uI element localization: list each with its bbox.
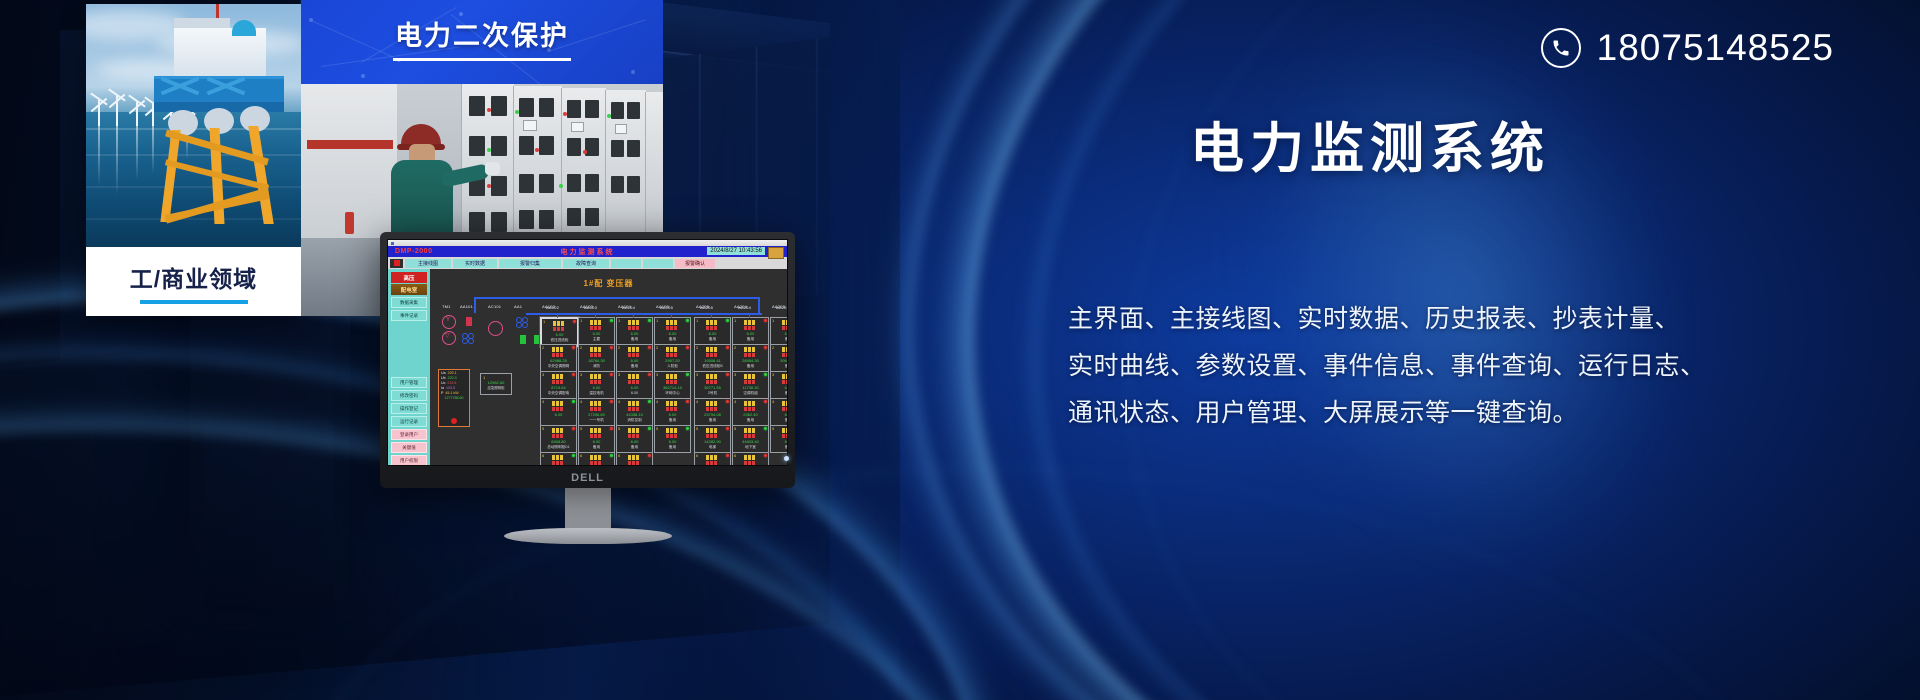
breaker-cell[interactable]: 16.00低压进线柜	[540, 317, 579, 347]
ib-val: 103.5	[446, 386, 455, 390]
cell-value: 44358.10	[617, 412, 652, 417]
cell-status-led	[572, 346, 575, 349]
cell-status-led	[573, 320, 576, 323]
breaker-cell[interactable]: 262988.25中央空调照明	[540, 344, 577, 372]
cell-value: 6.00	[655, 412, 690, 417]
breaker-cell[interactable]: 56.00备用	[616, 425, 653, 453]
cell-status-led	[686, 427, 689, 430]
phase-bars-icon	[552, 347, 566, 357]
cell-name: 一一号机	[579, 418, 614, 423]
cell-status-led	[572, 373, 575, 376]
phase-bars-icon	[706, 320, 720, 330]
breaker-cell[interactable]: 219506.41低压进线柜B	[694, 344, 731, 372]
cell-index: 5	[696, 426, 698, 431]
sidebar-item-op-record[interactable]: 操作登记	[391, 403, 427, 414]
ib-key: Ua	[441, 371, 446, 375]
feeder-drop	[711, 314, 712, 318]
cell-index: 1	[734, 318, 736, 323]
feature-description: 主界面、主接线图、实时数据、历史报表、抄表计量、 实时曲线、参数设置、事件信息、…	[1068, 296, 1868, 437]
cell-value: 6.00	[542, 332, 577, 337]
cell-name: 2号机	[695, 391, 730, 396]
cell-status-led	[686, 373, 689, 376]
left-measurement-panel: Ua220.1 Ub220.3 Uc219.8 Ia103.5 P45.1 kW…	[438, 369, 470, 427]
caption-label: 工/商业领域	[130, 260, 257, 294]
cell-index: 6	[542, 453, 544, 458]
breaker-cell[interactable]: 544603.40地下室	[732, 425, 769, 453]
column-label: AA204	[738, 305, 751, 310]
cell-name: 备用	[617, 364, 652, 369]
app-body: 高压 配电室 数据采集 事件记录 用户管理 修改密码 操作登记 运行记录 登录用…	[388, 269, 787, 465]
cell-name: 应急照明柜	[481, 385, 511, 390]
cell-name: 备用	[733, 418, 768, 423]
cell-status-led	[764, 427, 767, 430]
breaker-cell[interactable]: 423794.08备用	[694, 398, 731, 426]
cell-index: 1	[580, 318, 582, 323]
phase-bars-icon	[782, 320, 787, 330]
cell-status-led	[648, 373, 651, 376]
cell-status-led	[610, 454, 613, 457]
breaker-cell[interactable]: 38719.64中央空调配电	[540, 371, 577, 399]
cell-index: 5	[734, 426, 736, 431]
phase-bars-icon	[552, 401, 566, 411]
feeder-drop	[633, 314, 634, 318]
breaker-cell[interactable]: 36.00温控电机	[578, 371, 615, 399]
cell-name: 人防柜	[655, 364, 690, 369]
breaker-cell[interactable]: 66.00	[540, 452, 577, 465]
cell-name: 温控电机	[579, 391, 614, 396]
feeder-drop	[595, 314, 596, 318]
phase-bars-icon	[553, 321, 567, 331]
tag-underline	[393, 58, 571, 61]
cell-name: 电梯	[695, 445, 730, 450]
menu-spacer-b[interactable]	[643, 259, 673, 268]
cell-index: 2	[772, 345, 774, 350]
cell-status-led	[686, 346, 689, 349]
breaker-cell[interactable]: 16.00备用	[770, 317, 787, 345]
breaker-cell[interactable]: 218764.30消防	[578, 344, 615, 372]
breaker-cell[interactable]: 42362.40备用	[732, 398, 769, 426]
cell-value: 28954.30	[733, 358, 768, 363]
cell-name: 6.00	[617, 391, 652, 395]
phase-bars-icon	[666, 374, 680, 384]
sidebar-item-user-rights[interactable]: 用户权限	[391, 455, 427, 466]
feeder-label-aa1: AA1	[514, 304, 522, 309]
symbol-ct-a	[516, 317, 530, 327]
cell-index: 4	[542, 399, 544, 404]
phase-bars-icon	[590, 347, 604, 357]
breaker-cell[interactable]: 239661.70备用	[770, 344, 787, 372]
cell-status-led	[610, 373, 613, 376]
phase-bars-icon	[706, 455, 720, 465]
cell-value: 18764.30	[579, 358, 614, 363]
menu-item-4[interactable]: 报警确认	[675, 259, 715, 268]
sidebar-item-login-user[interactable]: 登录用户	[391, 429, 427, 440]
menu-item-0[interactable]: 主接线图	[405, 259, 451, 268]
cell-value: 6.00	[617, 331, 652, 336]
cell-index: 3	[580, 372, 582, 377]
cell-value: 23794.08	[695, 412, 730, 417]
cell-value: 62988.25	[541, 358, 576, 363]
offshore-platform-photo	[86, 4, 301, 247]
phase-bars-icon	[706, 428, 720, 438]
cell-name: 备用	[579, 445, 614, 450]
card-caption: 工/商业领域	[86, 247, 301, 316]
sidebar-item-event-log[interactable]: 事件记录	[391, 310, 427, 321]
cell-value: 11738.30	[733, 385, 768, 390]
cell-index: 6	[580, 453, 582, 458]
ib-total: 1277788.60	[445, 396, 464, 400]
cell-value: 2907.20	[655, 358, 690, 363]
bus-drop-left	[474, 297, 476, 313]
cell-name: 备用	[771, 418, 787, 423]
cell-status-led	[648, 427, 651, 430]
column-label: AA203	[776, 305, 787, 310]
cell-status-led	[648, 319, 651, 322]
feeder-drop	[749, 314, 750, 318]
phase-bars-icon	[552, 374, 566, 384]
phase-bars-icon	[628, 428, 642, 438]
cell-value: 2362.40	[733, 412, 768, 417]
scada-application: DMP-2000 电力监测系统 2024/8/27 10:43:56 主接线图 …	[388, 240, 787, 465]
breaker-cell[interactable]: 514282.90电梯	[694, 425, 731, 453]
breaker-cell[interactable]: 66.00	[694, 452, 731, 465]
breaker-cell[interactable]: 56908.80总动照明柜D1	[540, 425, 577, 453]
ib-key: Uc	[441, 381, 445, 385]
breaker-cell[interactable]: 444358.10消防控制	[616, 398, 653, 426]
breaker-cell[interactable]: 336771.552号机	[694, 371, 731, 399]
breaker-cell[interactable]: 628768.00动力照明电箱	[616, 452, 653, 465]
column-label: AA104	[622, 305, 635, 310]
cell-index: 2	[696, 345, 698, 350]
cell-index: 3	[618, 372, 620, 377]
contact-phone[interactable]: 18075148525	[1541, 27, 1834, 69]
phase-bars-icon	[628, 401, 642, 411]
symbol-switch-green-a	[520, 335, 526, 344]
ib-key: Ub	[441, 376, 446, 380]
cell-value: 6.00	[655, 439, 690, 444]
phase-bars-icon	[590, 455, 604, 465]
cell-value: 6.00	[579, 331, 614, 336]
cell-status-led	[610, 400, 613, 403]
symbol-transformer-left	[488, 321, 503, 336]
phase-bars-icon	[590, 428, 604, 438]
breaker-cell[interactable]: 46.00备用	[654, 398, 691, 426]
cell-name: 地下室	[733, 445, 768, 450]
settings-button[interactable]	[768, 247, 784, 259]
phase-bars-icon	[628, 320, 642, 330]
cell-index: 5	[656, 426, 658, 431]
cell-value: 6.00	[617, 385, 652, 390]
cell-index: 1	[618, 318, 620, 323]
tag-power-secondary-protection: 电力二次保护	[301, 0, 663, 84]
cell-name: 主要	[579, 337, 614, 342]
cell-value: 27206.60	[579, 412, 614, 417]
phase-bars-icon	[744, 320, 758, 330]
cell-name: 备用	[655, 445, 690, 450]
symbol-ct-left	[462, 333, 476, 343]
phase-bars-icon	[590, 320, 604, 330]
column-label: AA102	[546, 305, 559, 310]
left-small-cell[interactable]: 1 12962.60 应急照明柜	[480, 373, 512, 395]
cell-status-led	[572, 400, 575, 403]
breaker-cell[interactable]: 36.006.00	[616, 371, 653, 399]
cell-index: 3	[656, 372, 658, 377]
monitor-bezel: DMP-2000 电力监测系统 2024/8/27 10:43:56 主接线图 …	[380, 232, 795, 488]
breaker-cell[interactable]: 16.00备用	[654, 317, 691, 345]
cell-status-led	[764, 319, 767, 322]
phase-bars-icon	[666, 401, 680, 411]
cell-value: 6.00	[617, 439, 652, 444]
clock-display: 2024/8/27 10:43:56	[707, 247, 765, 255]
sidebar-item-high-voltage[interactable]: 高压	[391, 272, 427, 283]
menu-item-3[interactable]: 故障查询	[563, 259, 609, 268]
cell-status-led	[726, 346, 729, 349]
breaker-cell[interactable]: 26.00备用	[616, 344, 653, 372]
cell-index: 2	[656, 345, 658, 350]
breaker-cell[interactable]: 66.00备用	[578, 452, 615, 465]
cell-name: 低压进线柜	[542, 338, 577, 343]
cell-name: 备用	[771, 391, 787, 396]
cell-index: 5	[772, 426, 774, 431]
page-title: 电力监测系统	[1190, 104, 1550, 183]
cell-status-led	[610, 346, 613, 349]
cell-name: 备用	[733, 364, 768, 369]
ib-val: 45.1 kW	[445, 391, 458, 395]
breaker-cell[interactable]: 36.00备用	[770, 371, 787, 399]
cell-index: 4	[618, 399, 620, 404]
phase-bars-icon	[706, 374, 720, 384]
phase-bars-icon	[590, 374, 604, 384]
promo-banner: 工/商业领域	[0, 0, 1920, 700]
breaker-cell[interactable]: 3362714.10环网中心	[654, 371, 691, 399]
cell-value: 6.00	[655, 331, 690, 336]
sidebar-item-distribution[interactable]: 配电室	[391, 284, 427, 295]
cell-index: 1	[656, 318, 658, 323]
cell-name: 低压进线柜B	[695, 364, 730, 369]
cell-index: 4	[734, 399, 736, 404]
phone-number: 18075148525	[1597, 27, 1834, 69]
card-industrial-commercial: 工/商业领域	[86, 4, 301, 316]
cell-index: 5	[580, 426, 582, 431]
breaker-cell[interactable]: 228954.30备用	[732, 344, 769, 372]
cell-status-led	[764, 454, 767, 457]
cell-status-led	[764, 373, 767, 376]
phase-bars-icon	[666, 428, 680, 438]
cell-value: 6908.80	[541, 439, 576, 444]
cell-value: 6.00	[771, 439, 787, 444]
breaker-cell[interactable]: 16.00备用	[616, 317, 653, 345]
symbol-delta-left	[442, 331, 456, 345]
cell-value: 44603.40	[733, 439, 768, 444]
cell-index: 6	[696, 453, 698, 458]
cell-index: 6	[734, 453, 736, 458]
breaker-cell[interactable]: 427206.60一一号机	[578, 398, 615, 426]
cell-name: 备用	[617, 445, 652, 450]
phase-bars-icon	[782, 428, 787, 438]
feeder-label-aa101: AA101	[460, 304, 473, 309]
cell-status-led	[764, 400, 767, 403]
phase-bars-icon	[744, 374, 758, 384]
sidebar-item-data-acq[interactable]: 数据采集	[391, 297, 427, 308]
phase-bars-icon	[706, 347, 720, 357]
cell-value: 14282.90	[695, 439, 730, 444]
feeder-label-tm1: TM1	[442, 304, 451, 309]
cell-name: 空调机组	[733, 391, 768, 396]
feeder-drop	[557, 314, 558, 318]
breaker-cell[interactable]: 22907.20人防柜	[654, 344, 691, 372]
phase-bars-icon	[590, 401, 604, 411]
ib-val: 220.1	[448, 371, 457, 375]
cell-name: 备用	[695, 418, 730, 423]
cell-value: 6.00	[733, 331, 768, 336]
cell-index: 2	[618, 345, 620, 350]
breaker-cell[interactable]: 46.00备用	[770, 398, 787, 426]
cell-value: 6.00	[771, 385, 787, 390]
ib-val: 220.3	[448, 376, 457, 380]
cell-index: 3	[542, 372, 544, 377]
cell-status-led	[686, 319, 689, 322]
phase-bars-icon	[744, 347, 758, 357]
cell-name: 备用	[771, 445, 787, 450]
cell-status-led	[726, 427, 729, 430]
cell-index: 5	[618, 426, 620, 431]
desc-line-2: 实时曲线、参数设置、事件信息、事件查询、运行日志、	[1068, 343, 1868, 390]
cell-index: 4	[580, 399, 582, 404]
sidebar-item-run-record[interactable]: 运行记录	[391, 416, 427, 427]
column-label: AA105	[660, 305, 673, 310]
cell-status-led	[648, 400, 651, 403]
cell-name: 备用	[771, 364, 787, 369]
phase-bars-icon	[666, 320, 680, 330]
breaker-cell[interactable]: 56.00备用	[654, 425, 691, 453]
cell-name: 环网中心	[655, 391, 690, 396]
lv-bus	[526, 313, 762, 315]
app-topbar: DMP-2000 电力监测系统 2024/8/27 10:43:56	[388, 246, 787, 257]
cell-status-led	[610, 427, 613, 430]
cell-value: 6.00	[541, 412, 576, 417]
phase-bars-icon	[628, 374, 642, 384]
breaker-cell[interactable]: 56.00备用	[578, 425, 615, 453]
cell-index: 5	[542, 426, 544, 431]
monitor-brand: DELL	[380, 472, 795, 484]
desc-line-3: 通讯状态、用户管理、大屏展示等一键查询。	[1068, 390, 1868, 437]
cell-value: 36771.55	[695, 385, 730, 390]
desc-line-1: 主界面、主接线图、实时数据、历史报表、抄表计量、	[1068, 296, 1868, 343]
cell-index: 2	[542, 345, 544, 350]
sidebar-item-user-mgmt[interactable]: 用户管理	[391, 377, 427, 388]
phase-bars-icon	[744, 401, 758, 411]
cell-status-led	[572, 454, 575, 457]
cell-index: 1	[543, 319, 545, 324]
phase-bars-icon	[782, 347, 787, 357]
cell-status-led	[726, 454, 729, 457]
breaker-cell[interactable]: 16.00备用	[694, 317, 731, 345]
phase-bars-icon	[782, 401, 787, 411]
sidebar-item-key-value[interactable]: 关键值	[391, 442, 427, 453]
menu-item-2[interactable]: 报警归集	[499, 259, 561, 268]
cell-status-led	[726, 373, 729, 376]
ib-key: Ia	[441, 386, 444, 390]
ib-val: 219.8	[447, 381, 456, 385]
cell-value: 8719.64	[541, 385, 576, 390]
phase-bars-icon	[628, 455, 642, 465]
diagram-title: 1#配 变压器	[430, 278, 787, 289]
phase-bars-icon	[552, 455, 566, 465]
cell-status-led	[726, 400, 729, 403]
cell-name: 备用	[733, 337, 768, 342]
phase-bars-icon	[666, 347, 680, 357]
cell-index: 1	[696, 318, 698, 323]
cell-name: 消防控制	[617, 418, 652, 423]
phone-icon	[1541, 28, 1581, 68]
phase-bars-icon	[628, 347, 642, 357]
home-button[interactable]	[390, 259, 403, 268]
cell-name: 中央空调照明	[541, 364, 576, 369]
cell-status-led	[610, 319, 613, 322]
cell-value: 19506.41	[695, 358, 730, 363]
cell-status-led	[572, 427, 575, 430]
cell-name: 备用	[771, 337, 787, 342]
cell-value: 6.00	[579, 385, 614, 390]
cell-value: 6.00	[771, 331, 787, 336]
cell-index: 3	[696, 372, 698, 377]
cell-status-led	[648, 454, 651, 457]
cell-status-led	[686, 400, 689, 403]
single-line-diagram: 1#配 变压器 TM1 AA101 AC101 AA1 AA102	[430, 269, 787, 465]
column-label: AA205	[700, 305, 713, 310]
cell-name: 备用	[655, 337, 690, 342]
breaker-cell[interactable]: 56.00备用	[770, 425, 787, 453]
power-led	[784, 456, 789, 461]
monitor-stand-neck	[565, 484, 611, 532]
breaker-cell[interactable]: 311738.30空调机组	[732, 371, 769, 399]
cell-value: 6.00	[695, 331, 730, 336]
cell-index: 3	[772, 372, 774, 377]
cell-index: 4	[696, 399, 698, 404]
sidebar-item-change-pwd[interactable]: 修改密码	[391, 390, 427, 401]
ib-key: P	[441, 391, 443, 395]
bus-drop-right	[758, 297, 760, 313]
phase-bars-icon	[706, 401, 720, 411]
cell-index: 1	[772, 318, 774, 323]
phase-bars-icon	[744, 455, 758, 465]
menu-bar: 主接线图 实时数据 报警归集 故障查询 报警确认	[388, 257, 787, 269]
breaker-cell[interactable]: 46.00	[540, 398, 577, 426]
cell-value: 362714.10	[655, 385, 690, 390]
symbol-breaker-left	[466, 317, 472, 326]
cell-index: 6	[618, 453, 620, 458]
column-label: AA103	[584, 305, 597, 310]
cell-value: 39661.70	[771, 358, 787, 363]
menu-item-1[interactable]: 实时数据	[453, 259, 497, 268]
monitor-stand-base	[504, 528, 672, 544]
cell-name: 总动照明柜D1	[541, 445, 576, 450]
menu-spacer-a[interactable]	[611, 259, 641, 268]
cell-value: 6.00	[579, 439, 614, 444]
feeder-drop	[671, 314, 672, 318]
cell-name: 消防	[579, 364, 614, 369]
cell-name: 中央空调配电	[541, 391, 576, 396]
breaker-cell[interactable]: 634055.40备用	[732, 452, 769, 465]
breaker-cell[interactable]: 16.00主要	[578, 317, 615, 345]
breaker-cell[interactable]: 16.00备用	[732, 317, 769, 345]
monitor-screen: DMP-2000 电力监测系统 2024/8/27 10:43:56 主接线图 …	[387, 239, 788, 466]
cell-index: 4	[656, 399, 658, 404]
cell-status-led	[764, 346, 767, 349]
cell-index: 2	[734, 345, 736, 350]
sidebar: 高压 配电室 数据采集 事件记录 用户管理 修改密码 操作登记 运行记录 登录用…	[388, 269, 430, 465]
cell-index: 3	[734, 372, 736, 377]
